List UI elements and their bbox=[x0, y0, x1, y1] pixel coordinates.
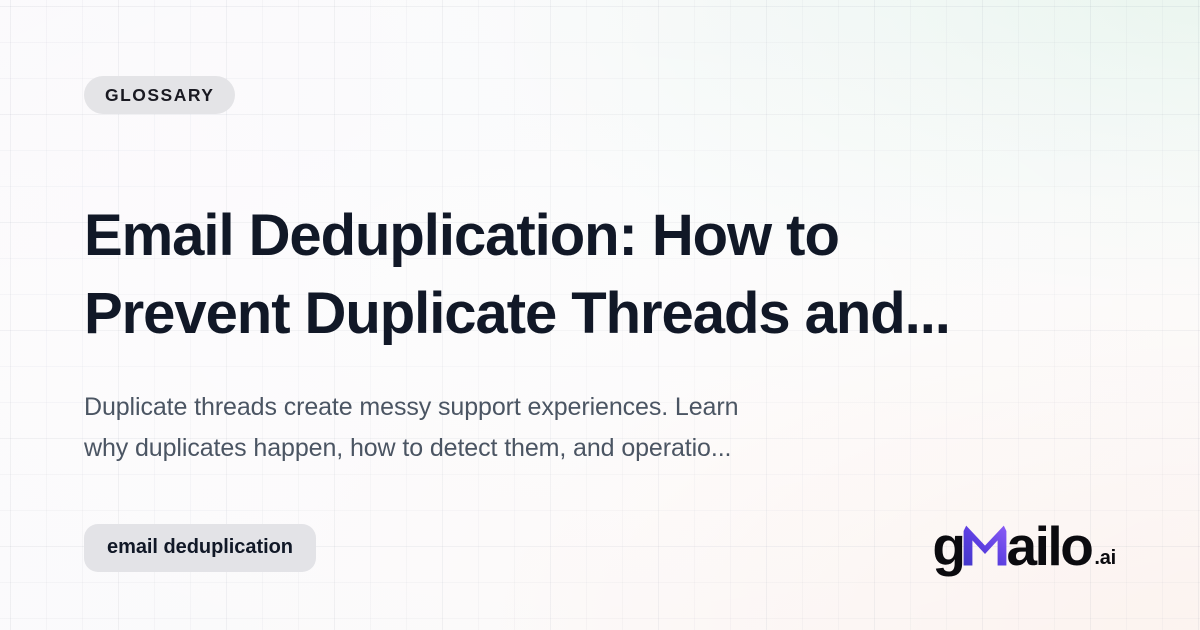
category-badge: GLOSSARY bbox=[84, 76, 235, 114]
page-title: Email Deduplication: How to Prevent Dupl… bbox=[84, 197, 1019, 353]
brand-logo: g ai bbox=[932, 519, 1116, 576]
card-content: GLOSSARY Email Deduplication: How to Pre… bbox=[0, 0, 1200, 630]
brand-tld: .ai bbox=[1094, 548, 1116, 568]
brand-name-suffix: ailo bbox=[1007, 519, 1092, 574]
page-description: Duplicate threads create messy support e… bbox=[84, 387, 894, 468]
topic-tag-badge: email deduplication bbox=[84, 524, 316, 572]
card-footer: email deduplication g bbox=[84, 519, 1116, 576]
category-row: GLOSSARY bbox=[84, 76, 1116, 114]
brand-name-prefix: g bbox=[932, 519, 963, 574]
og-card: GLOSSARY Email Deduplication: How to Pre… bbox=[0, 0, 1200, 630]
brand-wordmark: g ai bbox=[932, 519, 1116, 574]
gmail-m-icon bbox=[962, 525, 1008, 566]
